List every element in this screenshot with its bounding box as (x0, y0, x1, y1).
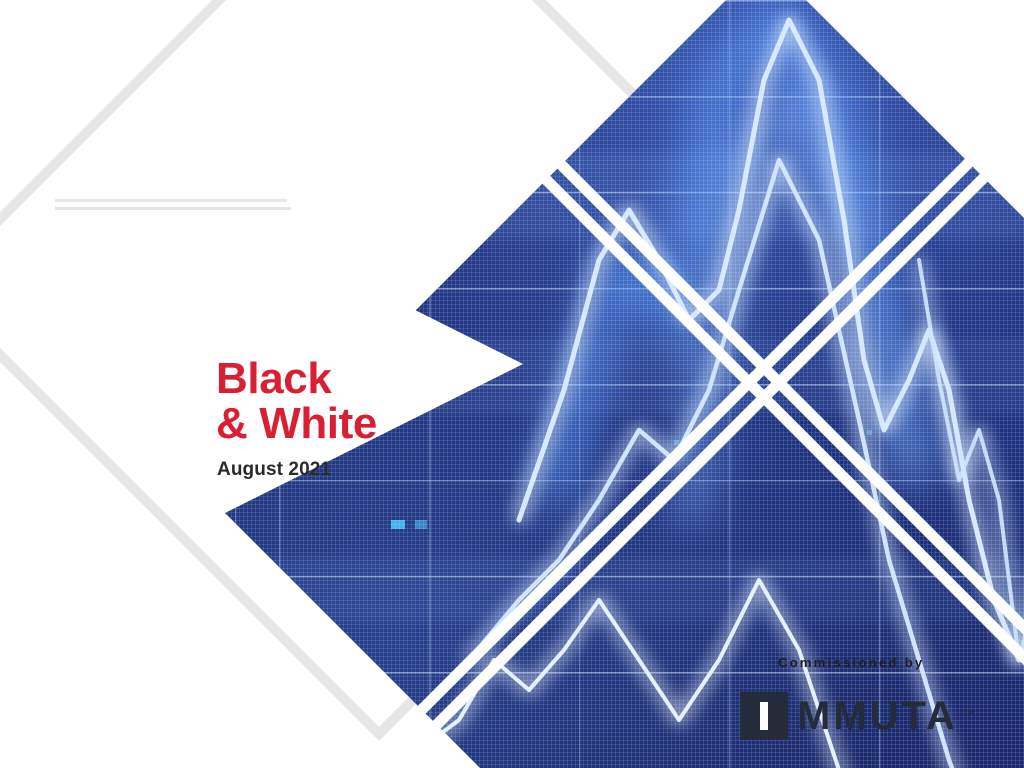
immuta-wordmark-text: MMUTA (797, 694, 958, 738)
title-line-2: & White (216, 401, 377, 446)
title-slide: Black & White August 2021 Commissioned b… (0, 0, 1024, 768)
commissioned-by-label: Commissioned by (778, 655, 924, 670)
immuta-logo: MMUTA ™ (740, 692, 958, 740)
immuta-i-bar (760, 702, 768, 730)
page-subtitle: August 2021 (217, 459, 331, 481)
page-title: Black & White (216, 356, 377, 446)
title-line-1: Black (216, 356, 377, 401)
thin-rule-left-lower (55, 207, 291, 210)
immuta-wordmark: MMUTA ™ (797, 696, 958, 736)
thin-rule-left-upper (55, 199, 287, 202)
trademark-icon: ™ (964, 694, 975, 734)
immuta-i-mark (740, 692, 788, 740)
